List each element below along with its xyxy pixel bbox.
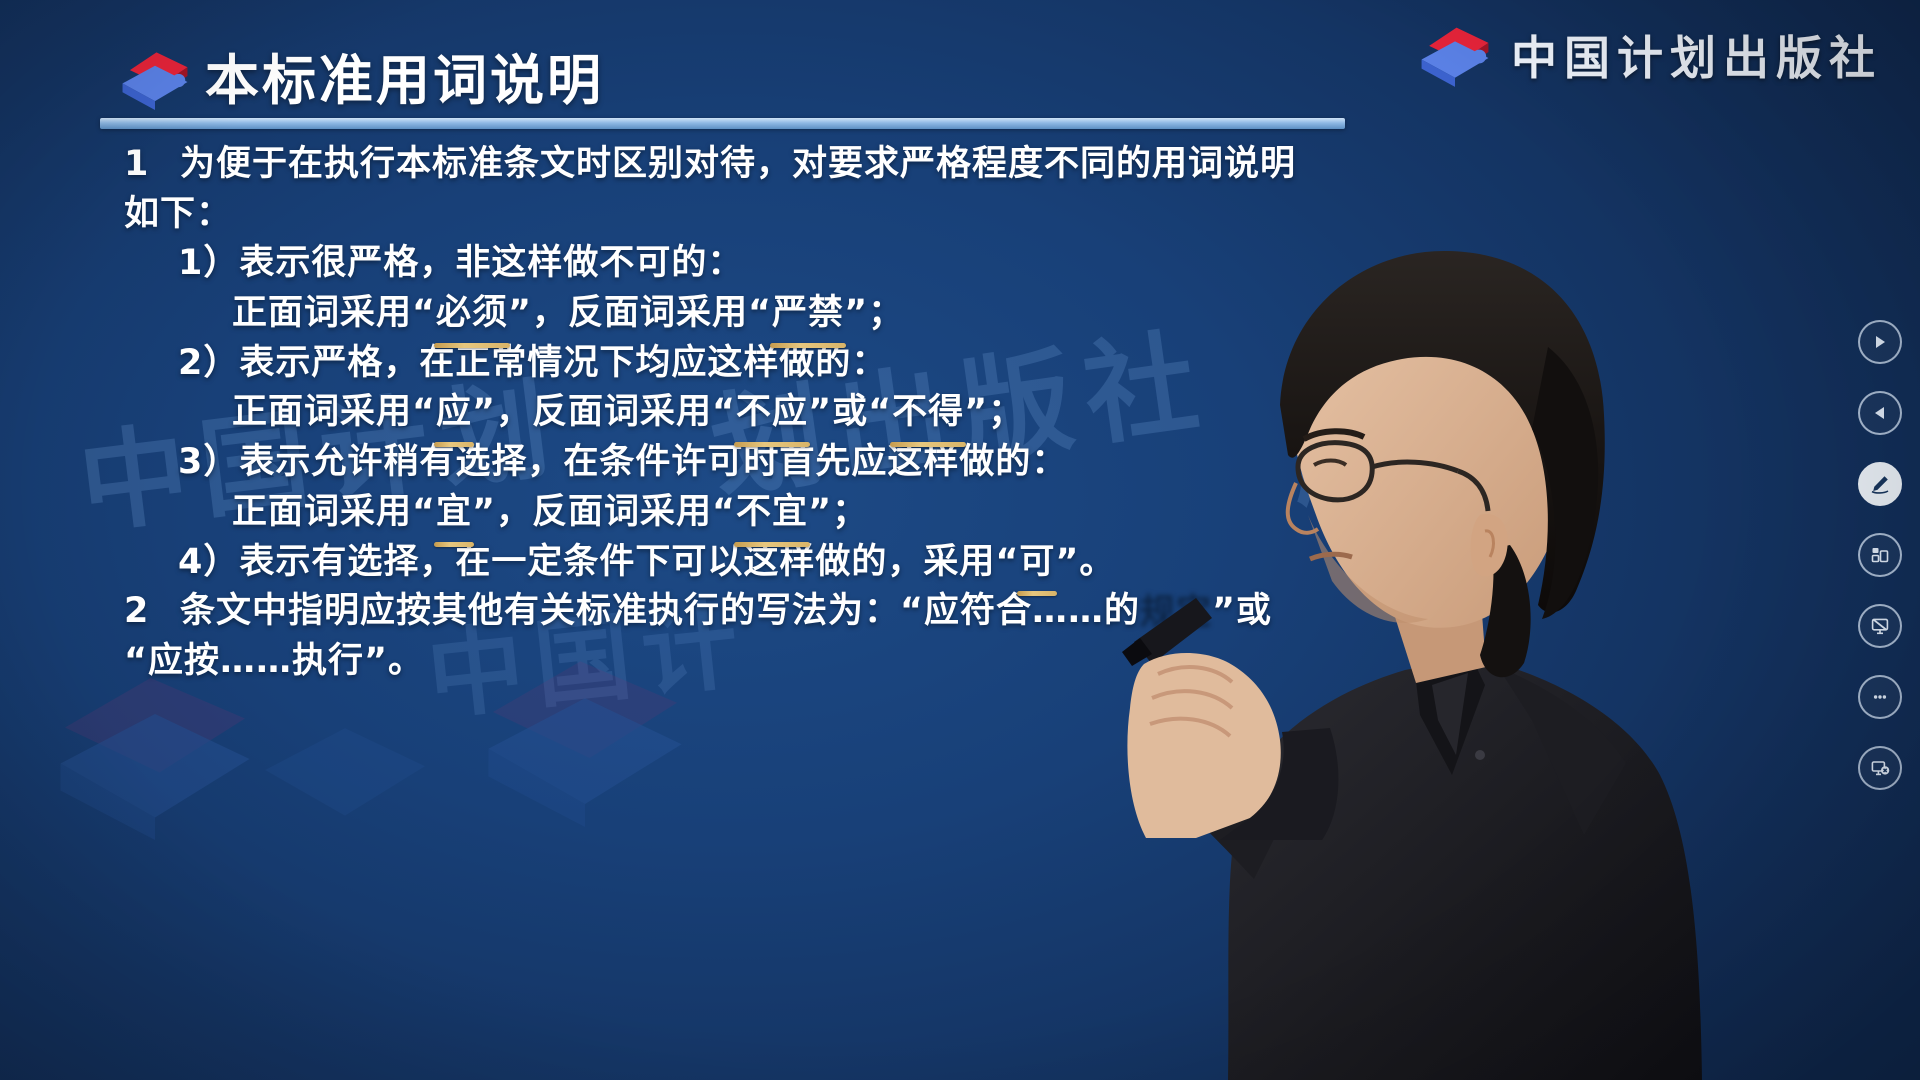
paragraph-1-line-2: 如下：: [124, 190, 1400, 240]
stop-share-icon: [1870, 758, 1890, 778]
item-1-number: 1）: [178, 243, 239, 283]
item-2-detail: 正面词采用“应”，反面词采用“不应”或“不得”；: [232, 388, 1400, 438]
paragraph-2-prefix: 条文中指明应按其他有关标准执行的写法为：“应符合……的: [180, 591, 1140, 631]
previous-slide-button[interactable]: [1858, 391, 1902, 435]
page-title: 本标准用词说明: [205, 36, 604, 115]
paragraph-2-line-2: “应按……执行”。: [124, 637, 1400, 687]
next-slide-button[interactable]: [1858, 320, 1902, 364]
book-watermark-icon: [40, 660, 270, 840]
play-right-icon: [1871, 333, 1889, 351]
more-options-button[interactable]: [1858, 675, 1902, 719]
paragraph-1-line-1: 1为便于在执行本标准条文时区别对待，对要求严格程度不同的用词说明: [124, 140, 1400, 190]
slide-body: 1为便于在执行本标准条文时区别对待，对要求严格程度不同的用词说明 如下： 1）表…: [0, 140, 1400, 687]
item-4-heading-prefix: 表示有选择，在一定条件下可以这样做的，采用“: [239, 542, 1019, 582]
item-1-detail-middle: ”，反面词采用“: [508, 293, 772, 333]
item-1-heading-text: 表示很严格，非这样做不可的：: [239, 243, 743, 283]
camera-off-button[interactable]: [1858, 604, 1902, 648]
item-2-positive-word: 应: [436, 388, 472, 438]
paragraph-2-number: 2: [124, 587, 180, 637]
item-1-negative-word: 严禁: [772, 289, 844, 339]
paragraph-2-line-1: 2条文中指明应按其他有关标准执行的写法为：“应符合……的规定”或: [124, 587, 1400, 637]
item-1-detail-prefix: 正面词采用“: [232, 293, 436, 333]
book-watermark-icon: [250, 690, 440, 850]
slide-header: 本标准用词说明 中国计划出版社: [0, 0, 1920, 135]
stop-share-button[interactable]: [1858, 746, 1902, 790]
annotate-pen-button[interactable]: [1858, 462, 1902, 506]
paragraph-2-suffix: ”或: [1212, 591, 1272, 631]
item-2-number: 2）: [178, 343, 239, 383]
paragraph-2-obscured-text: 规定: [1140, 591, 1212, 631]
layout-switch-button[interactable]: [1858, 533, 1902, 577]
play-left-icon: [1871, 404, 1889, 422]
item-2-detail-middle-2: ”或“: [808, 392, 892, 432]
item-1-detail-suffix: ”；: [844, 293, 904, 333]
item-4-number: 4）: [178, 542, 239, 582]
layout-grid-icon: [1870, 545, 1890, 565]
item-3-heading-text: 表示允许稍有选择，在条件许可时首先应这样做的：: [239, 442, 1067, 482]
item-2-negative-word: 不应: [736, 388, 808, 438]
publisher-name: 中国计划出版社: [1511, 22, 1882, 88]
item-2-detail-middle: ”，反面词采用“: [472, 392, 736, 432]
item-1-heading: 1）表示很严格，非这样做不可的：: [178, 239, 1400, 289]
item-3-detail-prefix: 正面词采用“: [232, 492, 436, 532]
item-2-detail-suffix: ”；: [964, 392, 1024, 432]
camera-muted-icon: [1870, 616, 1890, 636]
pen-annotate-icon: [1869, 473, 1891, 495]
stacked-books-icon: [118, 48, 192, 110]
item-2-heading-text: 表示严格，在正常情况下均应这样做的：: [239, 343, 887, 383]
lecture-slide-stage: 中国计划 划出版社 版社 中国计 本标准用词说明: [0, 0, 1920, 1080]
item-4-word: 可: [1019, 538, 1055, 588]
stacked-books-icon: [1417, 23, 1493, 87]
publisher-brand: 中国计划出版社: [1417, 22, 1882, 88]
item-1-detail: 正面词采用“必须”，反面词采用“严禁”；: [232, 289, 1400, 339]
item-2-detail-prefix: 正面词采用“: [232, 392, 436, 432]
item-3-negative-word: 不宜: [736, 488, 808, 538]
title-divider-rule: [100, 118, 1345, 129]
item-3-number: 3）: [178, 442, 239, 482]
item-3-positive-word: 宜: [436, 488, 472, 538]
item-3-detail: 正面词采用“宜”，反面词采用“不宜”；: [232, 488, 1400, 538]
item-3-detail-suffix: ”；: [808, 492, 868, 532]
more-dots-icon: [1870, 687, 1890, 707]
item-3-detail-middle: ”，反面词采用“: [472, 492, 736, 532]
paragraph-1-text: 为便于在执行本标准条文时区别对待，对要求严格程度不同的用词说明: [180, 144, 1296, 184]
item-4-heading-suffix: ”。: [1055, 542, 1115, 582]
player-control-rail[interactable]: [1858, 320, 1902, 790]
item-1-positive-word: 必须: [436, 289, 508, 339]
item-2-negative-word-2: 不得: [892, 388, 964, 438]
paragraph-1-number: 1: [124, 140, 180, 190]
